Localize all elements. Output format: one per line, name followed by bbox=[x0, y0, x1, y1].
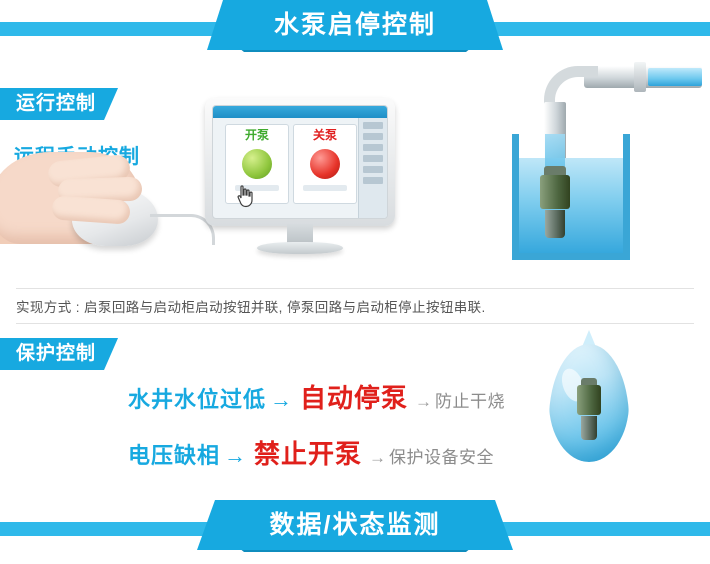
sidebar-row bbox=[363, 122, 383, 129]
rule-effect: 保护设备安全 bbox=[389, 448, 494, 467]
pump-body bbox=[577, 385, 601, 415]
bottom-banner-title: 数据/状态监测 bbox=[197, 500, 513, 550]
pump-motor bbox=[581, 416, 597, 440]
stop-pump-indicator[interactable] bbox=[310, 149, 340, 179]
rule-arrow-icon: → bbox=[266, 387, 296, 412]
rule-arrow-icon: → bbox=[220, 443, 250, 468]
water-drop-illustration bbox=[543, 344, 635, 474]
well-pump-illustration bbox=[498, 62, 704, 262]
sidebar-row bbox=[363, 133, 383, 140]
top-banner: 水泵启停控制 bbox=[0, 0, 710, 58]
run-control-flag: 运行控制 bbox=[0, 88, 118, 120]
hand-with-mouse-illustration bbox=[0, 152, 215, 262]
implementation-note: 实现方式 : 启泵回路与启动柜启动按钮并联, 停泵回路与启动柜停止按钮串联. bbox=[16, 288, 694, 324]
pump-body bbox=[540, 175, 570, 209]
stop-pump-status-bar bbox=[303, 185, 347, 191]
submersible-pump-icon bbox=[577, 378, 601, 442]
submersible-pump-icon bbox=[540, 166, 570, 242]
sidebar-row bbox=[363, 155, 383, 162]
infographic-page: 水泵启停控制 运行控制 远程手动控制 bbox=[0, 0, 710, 564]
protection-rule-row: 水井水位过低→自动停泵→防止干烧 bbox=[128, 378, 505, 415]
rule-action: 自动停泵 bbox=[296, 383, 412, 413]
sidebar-row bbox=[363, 177, 383, 184]
rule-action: 禁止开泵 bbox=[250, 439, 366, 469]
monitor-illustration: 开泵 关泵 bbox=[205, 98, 395, 258]
pipe-flange bbox=[634, 62, 646, 92]
rule-effect: 防止干烧 bbox=[435, 392, 505, 411]
rule-condition: 电压缺相 bbox=[128, 443, 220, 468]
screen-sidebar bbox=[358, 118, 387, 218]
screen-app-titlebar bbox=[213, 106, 387, 118]
monitor-screen: 开泵 关泵 bbox=[212, 105, 388, 219]
pump-motor bbox=[545, 210, 565, 238]
rule-effect-arrow-icon: → bbox=[412, 392, 435, 411]
top-banner-title: 水泵启停控制 bbox=[207, 0, 503, 50]
monitor-base bbox=[257, 242, 343, 254]
start-pump-indicator[interactable] bbox=[242, 149, 272, 179]
stop-pump-panel[interactable]: 关泵 bbox=[293, 124, 357, 204]
sidebar-row bbox=[363, 144, 383, 151]
start-pump-label: 开泵 bbox=[226, 125, 288, 145]
hand-pointer-icon bbox=[235, 184, 257, 208]
bottom-banner: 数据/状态监测 bbox=[0, 500, 710, 558]
well-water bbox=[519, 158, 623, 253]
monitor-bezel: 开泵 关泵 bbox=[205, 98, 395, 226]
protection-rule-row: 电压缺相→禁止开泵→保护设备安全 bbox=[128, 434, 494, 471]
protection-control-flag: 保护控制 bbox=[0, 338, 118, 370]
stop-pump-label: 关泵 bbox=[294, 125, 356, 145]
pipe-water-flow bbox=[648, 68, 702, 86]
rule-effect-arrow-icon: → bbox=[366, 448, 389, 467]
rule-condition: 水井水位过低 bbox=[128, 387, 266, 412]
sidebar-row bbox=[363, 166, 383, 173]
